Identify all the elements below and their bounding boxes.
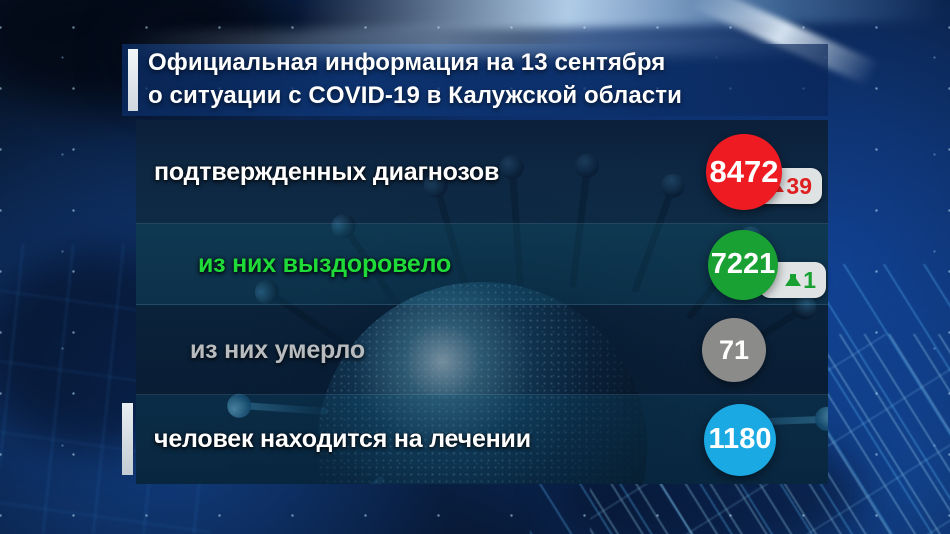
stat-label: подтвержденных диагнозов xyxy=(154,158,499,187)
title-line-2: о ситуации с COVID-19 в Калужской област… xyxy=(148,79,682,112)
delta-value: 1 xyxy=(803,269,816,292)
stat-label: из них умерло xyxy=(190,336,365,365)
title-banner: Официальная информация на 13 сентября о … xyxy=(122,44,828,116)
title-line-1: Официальная информация на 13 сентября xyxy=(148,46,682,79)
stats-panel: подтвержденных диагнозов 39 8472 из них … xyxy=(136,120,828,484)
title-accent-bar xyxy=(128,49,138,111)
stat-value-group: 39 8472 xyxy=(658,120,828,224)
stat-value-group: 1 7221 xyxy=(658,224,828,305)
stat-row[interactable]: из них умерло 71 xyxy=(136,305,828,395)
stat-value: 8472 xyxy=(710,154,779,190)
stat-row[interactable]: из них выздоровело 1 7221 xyxy=(136,224,828,305)
stat-value-group: 1180 xyxy=(658,395,828,484)
stat-value-circle: 71 xyxy=(702,318,766,382)
arrow-up-icon xyxy=(785,274,801,286)
stat-label: из них выздоровело xyxy=(198,250,451,279)
stat-value: 71 xyxy=(719,335,749,366)
page-title: Официальная информация на 13 сентября о … xyxy=(148,46,682,112)
stat-row[interactable]: подтвержденных диагнозов 39 8472 xyxy=(136,120,828,224)
stat-value-group: 71 xyxy=(658,305,828,395)
stat-value: 7221 xyxy=(711,248,776,281)
stat-value: 1180 xyxy=(709,423,772,456)
stat-value-circle: 1180 xyxy=(704,404,776,476)
stat-label: человек находится на лечении xyxy=(154,425,531,454)
row-accent-bar xyxy=(122,403,133,475)
infographic-slide: подтвержденных диагнозов 39 8472 из них … xyxy=(0,0,950,534)
stat-value-circle: 7221 xyxy=(708,230,778,300)
delta-value: 39 xyxy=(786,175,812,198)
stat-row[interactable]: человек находится на лечении 1180 xyxy=(136,395,828,484)
stat-value-circle: 8472 xyxy=(706,134,782,210)
